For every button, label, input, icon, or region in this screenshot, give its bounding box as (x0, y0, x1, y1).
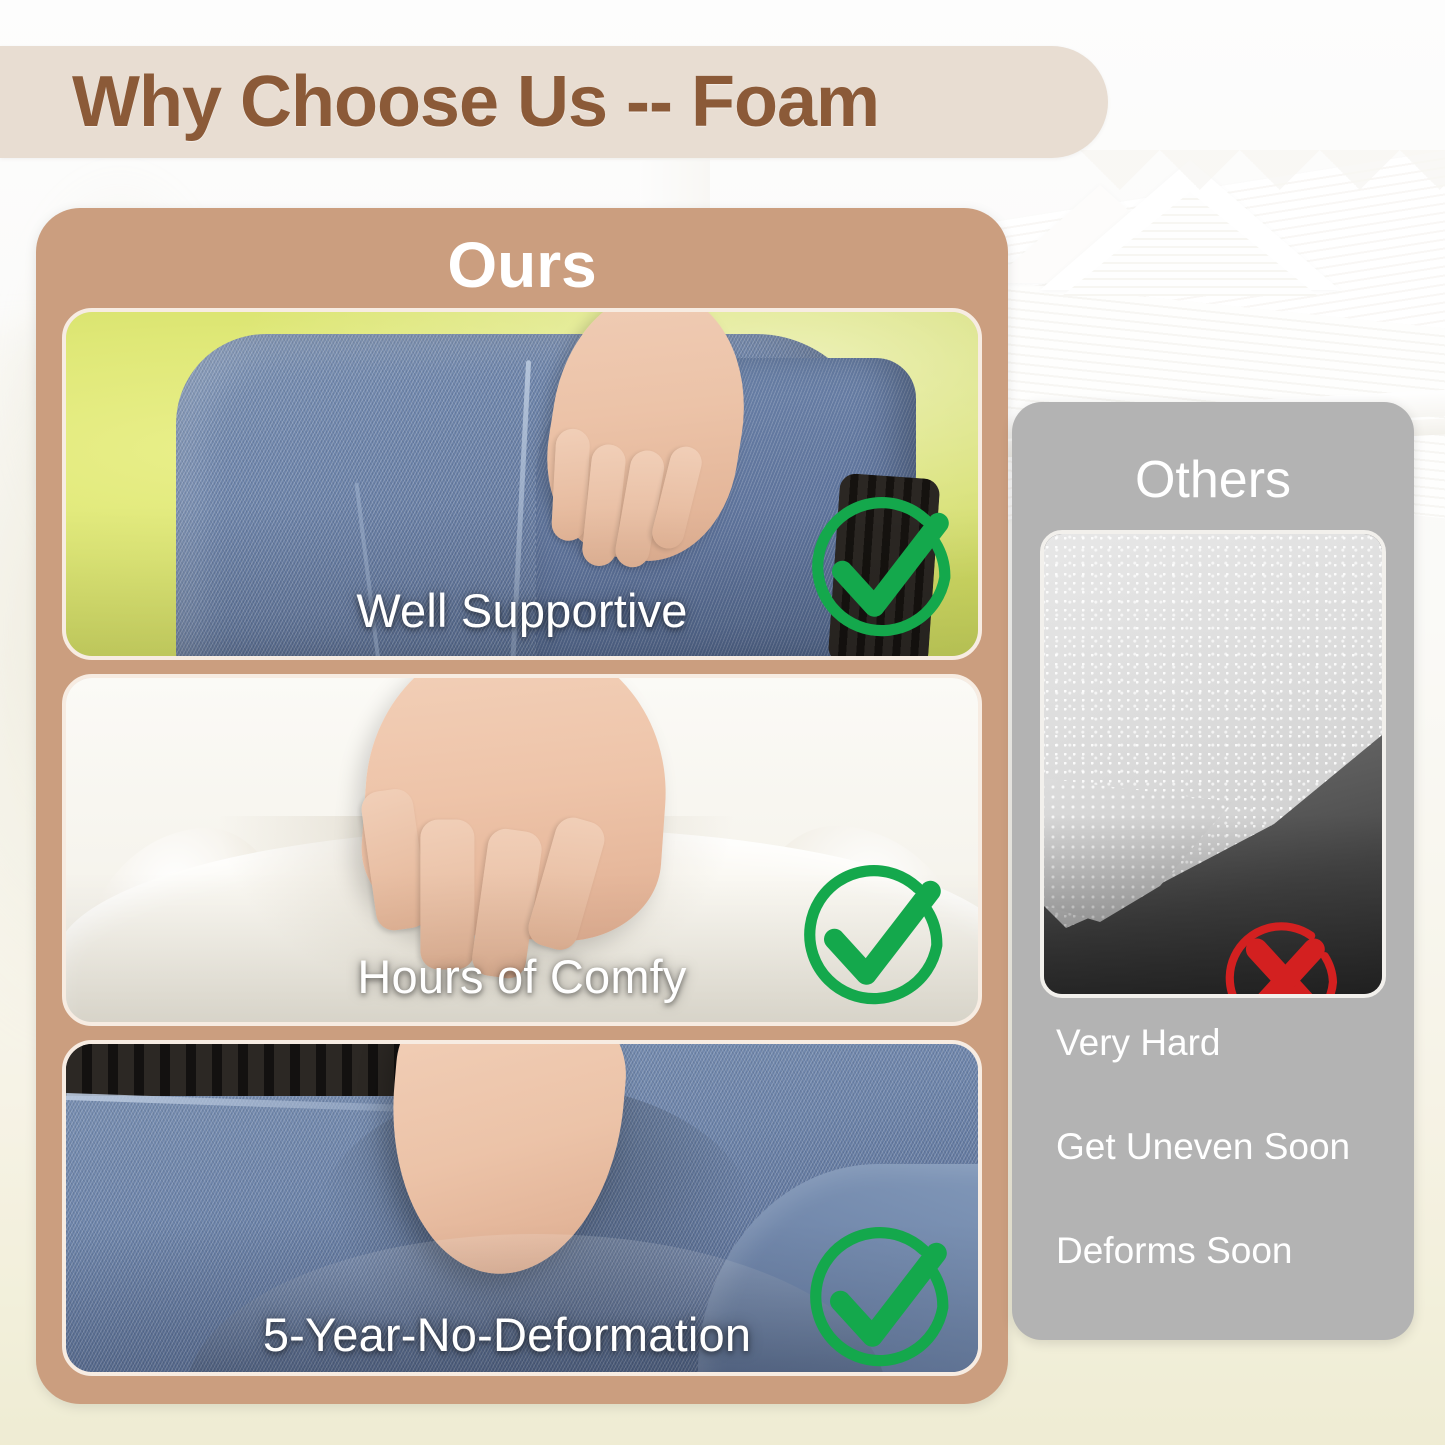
green-check-icon (802, 1218, 962, 1376)
others-panel: Others Very Hard Get Uneven Soon Deforms… (1012, 402, 1414, 1340)
ours-card-hours-of-comfy: Hours of Comfy (62, 674, 982, 1026)
others-bullet-list: Very Hard Get Uneven Soon Deforms Soon (1056, 1022, 1394, 1272)
green-check-icon (804, 488, 964, 648)
red-x-icon (1216, 914, 1352, 998)
ours-panel-title: Ours (36, 228, 1008, 302)
others-card-photo (1040, 530, 1386, 998)
page-title: Why Choose Us -- Foam (72, 61, 879, 143)
ours-card-no-deformation: 5-Year-No-Deformation (62, 1040, 982, 1376)
others-bullet-item: Very Hard (1056, 1022, 1394, 1064)
others-bullet-item: Deforms Soon (1056, 1230, 1394, 1272)
ours-panel: Ours Well Supportive (36, 208, 1008, 1404)
infographic-root: Why Choose Us -- Foam Ours Well (0, 0, 1445, 1445)
ours-card-well-supportive: Well Supportive (62, 308, 982, 660)
others-bullet-item: Get Uneven Soon (1056, 1126, 1394, 1168)
green-check-icon (796, 856, 956, 1016)
others-panel-title: Others (1012, 450, 1414, 510)
header-banner: Why Choose Us -- Foam (0, 46, 1108, 158)
